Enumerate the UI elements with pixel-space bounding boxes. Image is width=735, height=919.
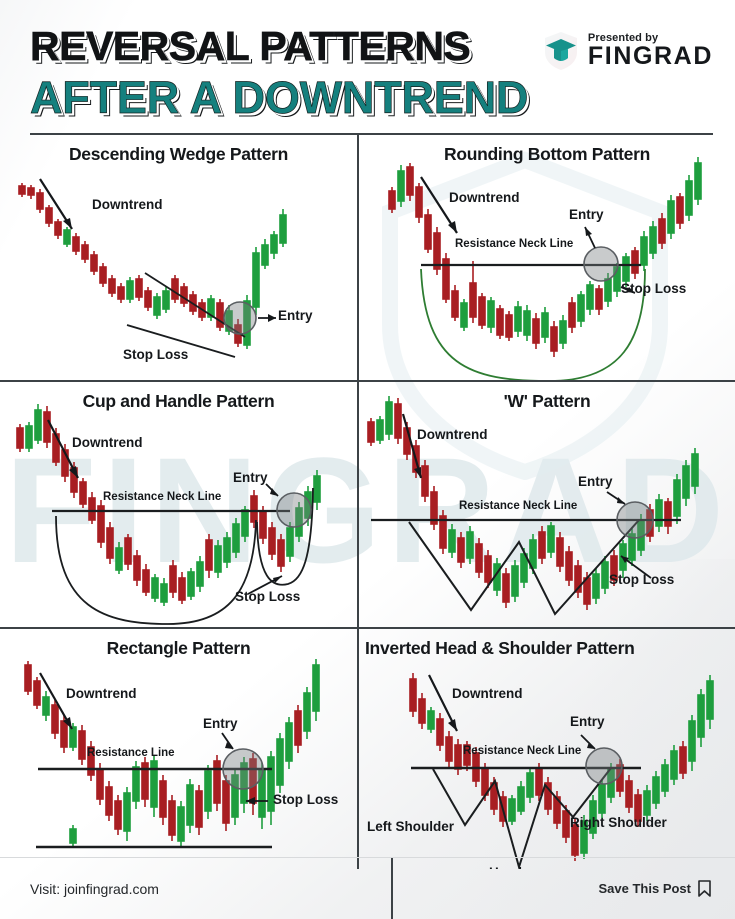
label-resistance-neck-line: Resistance Neck Line (103, 491, 221, 503)
label-downtrend: Downtrend (449, 190, 520, 205)
label-downtrend: Downtrend (452, 686, 523, 701)
label-resistance-neck-line: Resistance Neck Line (459, 500, 577, 512)
label-stop-loss: Stop Loss (123, 347, 188, 362)
panel-title-inverted-head-shoulder: Inverted Head & Shoulder Pattern (359, 629, 735, 659)
poster-header: REVERSAL PATTERNS Presented by (0, 0, 735, 135)
chart-descending-wedge (0, 135, 357, 380)
save-this-post-label: Save This Post (599, 881, 691, 896)
panel-title-rectangle: Rectangle Pattern (0, 629, 357, 659)
label-downtrend: Downtrend (66, 686, 137, 701)
panel-rounding-bottom: Rounding Bottom Pattern (359, 135, 735, 380)
label-resistance-line: Resistance Line (87, 747, 175, 759)
panel-rectangle: Rectangle Pattern (0, 629, 357, 869)
panel-descending-wedge: Descending Wedge Pattern (0, 135, 357, 380)
footer-visit-url[interactable]: Visit: joinfingrad.com (30, 881, 159, 897)
label-stop-loss: Stop Loss (273, 792, 338, 807)
panel-title-descending-wedge: Descending Wedge Pattern (0, 135, 357, 165)
chart-cup-and-handle (0, 382, 357, 627)
label-right-shoulder: Right Shoulder (570, 815, 667, 830)
page-subtitle: AFTER A DOWNTREND (30, 75, 713, 120)
label-resistance-neck-line: Resistance Neck Line (455, 238, 573, 250)
label-stop-loss: Stop Loss (621, 281, 686, 296)
label-entry: Entry (203, 716, 238, 731)
label-left-shoulder: Left Shoulder (367, 819, 454, 834)
poster-footer: Visit: joinfingrad.com Save This Post (0, 857, 735, 919)
label-stop-loss: Stop Loss (235, 589, 300, 604)
label-downtrend: Downtrend (92, 197, 163, 212)
pattern-grid: Descending Wedge Pattern (0, 135, 735, 869)
panel-inverted-head-shoulder: Inverted Head & Shoulder Pattern (359, 629, 735, 869)
label-entry: Entry (278, 308, 313, 323)
label-entry: Entry (569, 207, 604, 222)
header-divider (30, 133, 713, 135)
save-this-post-button[interactable]: Save This Post (599, 880, 711, 897)
infographic-poster: FINGRAD REVERSAL PATTERNS (0, 0, 735, 919)
label-entry: Entry (578, 474, 613, 489)
page-title: REVERSAL PATTERNS (30, 26, 470, 66)
chart-rectangle (0, 629, 357, 869)
bookmark-icon (698, 880, 711, 897)
label-entry: Entry (233, 470, 268, 485)
panel-cup-and-handle: Cup and Handle Pattern (0, 382, 357, 627)
label-downtrend: Downtrend (72, 435, 143, 450)
chart-rounding-bottom (359, 135, 735, 380)
panel-title-w-pattern: 'W' Pattern (359, 382, 735, 412)
shield-graduation-cap-icon (543, 31, 579, 71)
brand-name: FINGRAD (588, 44, 713, 70)
label-resistance-neck-line: Resistance Neck Line (463, 745, 581, 757)
label-stop-loss: Stop Loss (609, 572, 674, 587)
label-downtrend: Downtrend (417, 427, 488, 442)
panel-w-pattern: 'W' Pattern (359, 382, 735, 627)
label-entry: Entry (570, 714, 605, 729)
panel-title-rounding-bottom: Rounding Bottom Pattern (359, 135, 735, 165)
panel-title-cup-and-handle: Cup and Handle Pattern (0, 382, 357, 412)
brand-lockup: Presented by FINGRAD (543, 26, 713, 71)
